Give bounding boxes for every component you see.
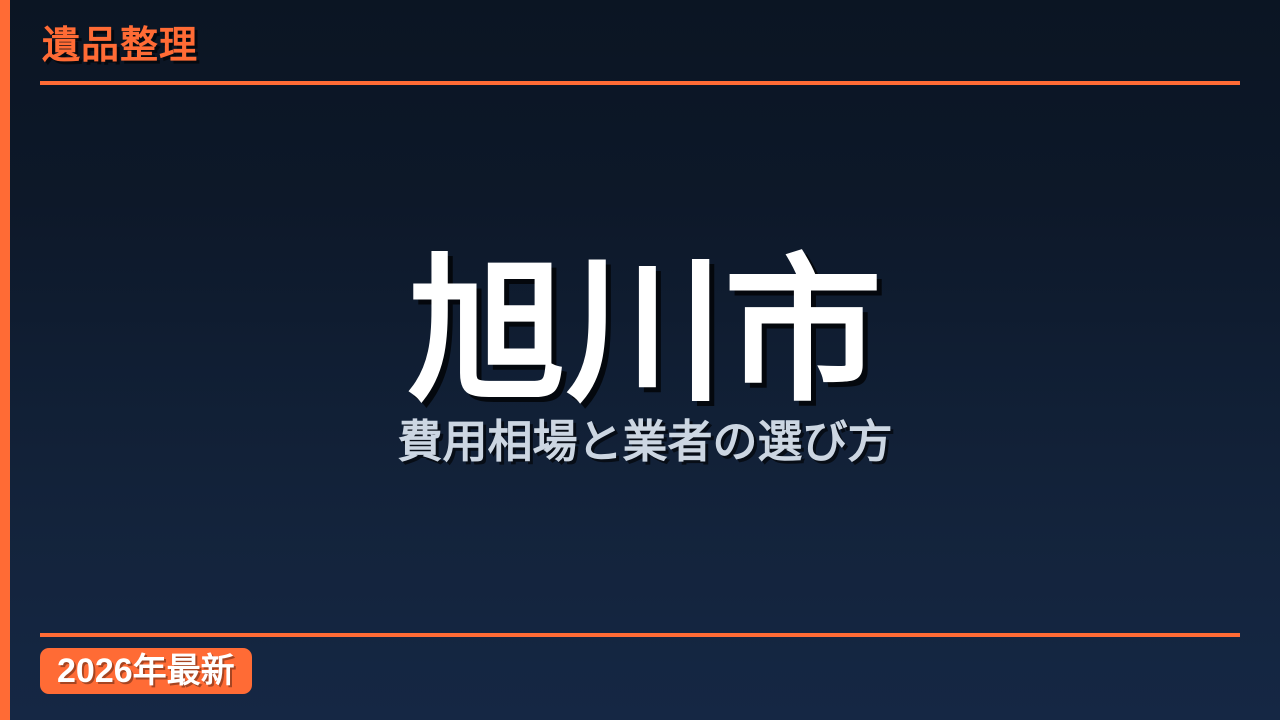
page-subtitle: 費用相場と業者の選び方 bbox=[397, 417, 892, 467]
bottom-divider-rule bbox=[40, 633, 1240, 637]
page-title: 旭川市 bbox=[408, 253, 882, 411]
status-badge-label: 2026年最新 bbox=[57, 654, 235, 688]
title-slide: 遺品整理 旭川市 費用相場と業者の選び方 2026年最新 bbox=[0, 0, 1280, 720]
center-content-block: 旭川市 費用相場と業者の選び方 bbox=[10, 0, 1280, 720]
left-accent-bar bbox=[0, 0, 10, 720]
status-badge: 2026年最新 bbox=[40, 648, 252, 694]
